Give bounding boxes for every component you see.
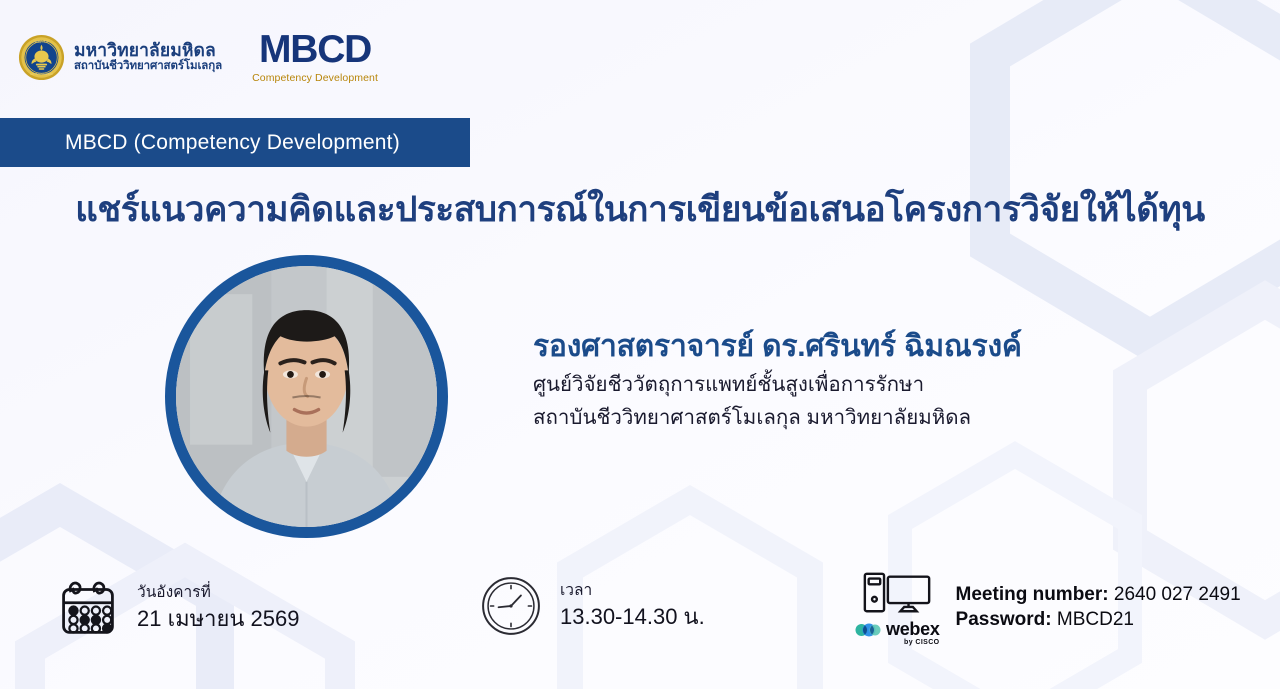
mbcd-logo: MBCD Competency Development [252,30,378,84]
webex-wordmark: webex [886,619,940,640]
speaker-avatar [165,255,448,538]
meeting-password-value: MBCD21 [1057,609,1134,630]
webex-platform: webex by CISCO [855,569,940,646]
speaker-photo [176,266,437,527]
time-value: 13.30-14.30 น. [560,604,705,630]
university-name-thai: มหาวิทยาลัยมหิดล [74,41,222,61]
speaker-name: รองศาสตราจารย์ ดร.ศรินทร์ ฉิมณรงค์ [533,328,1022,366]
webex-byline: by CISCO [904,639,939,646]
poster-canvas: ปญฺญา ชีวิต มหาวิทยาลัยมหิดล มหาวิทยาลัย… [0,0,1280,689]
mbcd-wordmark: MBCD [259,30,371,69]
date-value: 21 เมษายน 2569 [137,606,299,632]
svg-text:ปญฺญา ชีวิต: ปญฺญา ชีวิต [34,39,49,43]
header-logos: ปญฺญา ชีวิต มหาวิทยาลัยมหิดล มหาวิทยาลัย… [18,30,378,84]
speaker-affiliation-line1: ศูนย์วิจัยชีววัตถุการแพทย์ชั้นสูงเพื่อกา… [533,370,1022,400]
meeting-password-label: Password: [956,609,1052,630]
speaker-affiliation-line2: สถาบันชีววิทยาศาสตร์โมเลกุล มหาวิทยาลัยม… [533,403,1022,433]
meeting-password-line: Password: MBCD21 [956,609,1241,631]
calendar-icon [55,575,121,641]
event-details-bar: วันอังคารที่ 21 เมษายน 2569 เวลา [0,573,1280,663]
svg-text:มหาวิทยาลัยมหิดล: มหาวิทยาลัยมหิดล [30,71,53,75]
mbcd-tagline: Competency Development [252,72,378,84]
time-label: เวลา [560,582,705,601]
event-time-block: เวลา 13.30-14.30 น. [480,575,705,637]
event-date-block: วันอังคารที่ 21 เมษายน 2569 [55,575,299,641]
webex-logo: webex [855,619,940,640]
date-label: วันอังคารที่ [137,584,299,603]
meeting-info-block: webex by CISCO Meeting number: 2640 027 … [855,569,1241,646]
mahidol-university-logo: ปญฺญา ชีวิต มหาวิทยาลัยมหิดล มหาวิทยาลัย… [18,34,222,81]
clock-icon [480,575,542,637]
meeting-number-value: 2640 027 2491 [1114,584,1241,605]
program-banner: MBCD (Competency Development) [0,118,470,167]
webex-blob-icon [855,621,881,639]
page-title: แชร์แนวความคิดและประสบการณ์ในการเขียนข้อ… [0,190,1280,229]
meeting-number-label: Meeting number: [956,584,1109,605]
institute-name-thai: สถาบันชีววิทยาศาสตร์โมเลกุล [74,60,222,73]
program-banner-label: MBCD (Competency Development) [0,131,400,155]
desktop-computer-icon [861,569,933,617]
speaker-info: รองศาสตราจารย์ ดร.ศรินทร์ ฉิมณรงค์ ศูนย์… [533,328,1022,433]
meeting-number-line: Meeting number: 2640 027 2491 [956,584,1241,606]
mahidol-seal-icon: ปญฺญา ชีวิต มหาวิทยาลัยมหิดล [18,34,65,81]
meeting-credentials: Meeting number: 2640 027 2491 Password: … [956,584,1241,631]
